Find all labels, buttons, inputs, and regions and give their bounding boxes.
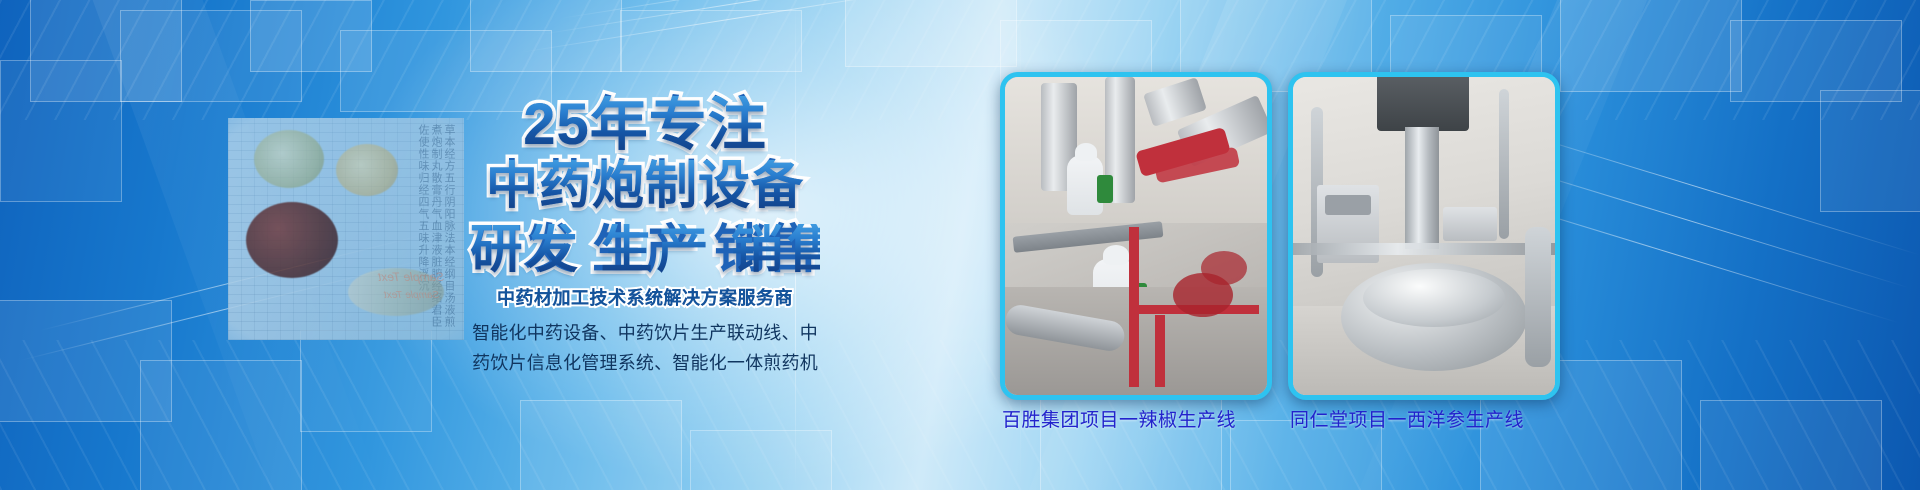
photo-card-chili[interactable] [1000,72,1272,400]
photo-worker-hat [1103,245,1129,265]
sample-text-watermark: Sample Text [384,290,439,301]
top-stripe-texture [0,0,1920,120]
deco-diagonal [540,0,965,35]
herbal-medicine-collage: 草本经方五行阴阳脉法本经纲目汤液煎煮炮制丸散膏丹气血津液脏腑经络君臣佐使性味归经… [228,118,464,340]
photo-steel-column [1405,127,1439,249]
deco-rect [1700,400,1882,490]
deco-rect [620,10,802,72]
photo-pipe [1499,89,1509,239]
headline-line-1-row: 25年专注 25年专注 [470,96,820,158]
bottom-stripe-texture [0,340,1920,490]
deco-rect [1560,0,1742,92]
deco-diagonal [520,0,955,53]
description-line-1: 智能化中药设备、中药饮片生产联动线、中 [452,318,838,348]
photo-vessel-lid [1363,269,1505,327]
deco-rect [845,0,1017,67]
deco-rect [30,0,182,102]
photo-card-ginseng[interactable] [1288,72,1560,400]
headline-line-2: 中药炮制设备 [470,160,820,212]
deco-rect [470,0,622,72]
photo-red-frame [1155,315,1165,387]
description-block: 智能化中药设备、中药饮片生产联动线、中 药饮片信息化管理系统、智能化一体煎药机 [452,318,838,378]
photo-worker-hat [1075,143,1097,161]
herb-pile [254,130,324,188]
deco-rect [0,300,172,422]
photo-panel-small [1443,207,1497,241]
photo-caption-ginseng: 同仁堂项目一西洋参生产线 [1290,405,1524,432]
photo-conveyor [1013,221,1164,253]
promo-banner: 草本经方五行阴阳脉法本经纲目汤液煎煮炮制丸散膏丹气血津液脏腑经络君臣佐使性味归经… [0,0,1920,490]
description-line-2: 药饮片信息化管理系统、智能化一体煎药机 [452,348,838,378]
chili-production-line-photo [1005,77,1267,395]
deco-rect [520,400,682,490]
deco-rect [1730,20,1902,102]
sample-text-watermark: Sample Text [378,270,444,284]
deco-rect [120,10,302,102]
headline-line-2-row: 中药炮制设备 中药炮制设备 [470,160,820,222]
deco-rect [690,430,832,490]
deco-rect [140,360,302,490]
deco-rect [250,0,372,72]
photo-machine-head [1377,73,1469,131]
photo-steel-rail [1293,243,1555,255]
headline-block: 25年专注 25年专注 中药炮制设备 中药炮制设备 研发 生产 销售 研发 生产… [470,96,820,286]
photo-control-panel [1325,195,1371,215]
herb-pile [246,202,338,278]
tagline: 中药材加工技术系统解决方案服务商 [470,284,820,310]
headline-line-3-row: 研发 生产 销售 研发 生产 销售 [470,224,820,286]
photo-pipe [1525,227,1551,367]
ginseng-production-line-photo [1293,77,1555,395]
headline-line-3: 研发 生产 销售 [470,224,820,276]
deco-rect [0,60,122,202]
deco-diagonal [560,0,975,19]
photo-caption-chili: 百胜集团项目一辣椒生产线 [1002,405,1236,432]
herb-pile [336,144,398,196]
photo-chili [1201,251,1247,285]
headline-line-1: 25年专注 [470,96,820,154]
photo-worker-glove [1097,175,1113,203]
deco-rect [1820,90,1920,212]
deco-rect [300,330,432,432]
